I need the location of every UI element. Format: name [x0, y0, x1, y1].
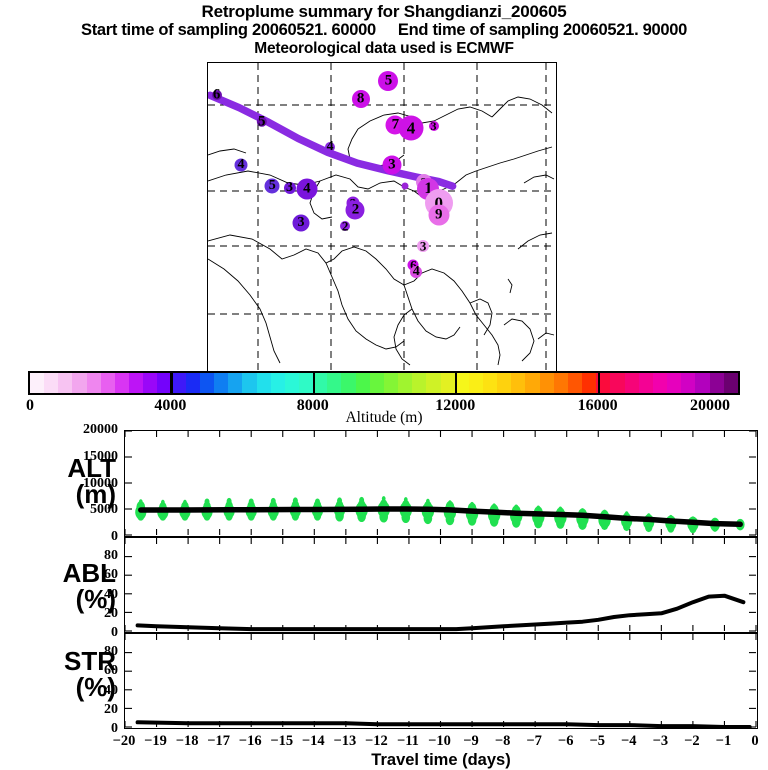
altitude-scatter-dot [623, 521, 630, 531]
colorbar-swatch [426, 373, 440, 393]
x-tick-label: −19 [144, 733, 167, 750]
altitude-scatter-dot [424, 513, 433, 524]
plume-marker[interactable] [296, 178, 317, 199]
colorbar-swatch [58, 373, 72, 393]
plume-marker[interactable] [378, 71, 398, 91]
x-tick-label: −9 [463, 733, 479, 750]
abl-trend-line [138, 596, 744, 629]
x-tick-label: −3 [653, 733, 669, 750]
alt-y-tick-label: 10000 [60, 477, 118, 491]
altitude-scatter-dot [401, 512, 410, 523]
x-tick-label: −2 [684, 733, 700, 750]
colorbar-swatch [653, 373, 667, 393]
colorbar-swatch [724, 373, 738, 393]
x-tick-label: −13 [333, 733, 356, 750]
colorbar-swatch [257, 373, 271, 393]
colorbar-swatch [540, 373, 554, 393]
x-tick-label: −7 [526, 733, 542, 750]
colorbar-swatch [341, 373, 355, 393]
colorbar-swatch [398, 373, 412, 393]
altitude-scatter-dot [292, 511, 299, 521]
colorbar-swatch [384, 373, 398, 393]
altitude-scatter-dot [601, 520, 608, 530]
sampling-time-line: Start time of sampling 20060521. 60000En… [0, 21, 768, 39]
colorbar-swatch [186, 373, 200, 393]
str-panel[interactable] [124, 633, 758, 729]
plume-marker[interactable] [352, 90, 370, 108]
colorbar-swatch [356, 373, 370, 393]
x-tick-label: −10 [428, 733, 451, 750]
page-title: Retroplume summary for Shangdianzi_20060… [0, 2, 768, 21]
map-gridlines [208, 63, 555, 371]
colorbar-swatch [200, 373, 214, 393]
colorbar-swatch [511, 373, 525, 393]
str-y-tick-label: 20 [60, 703, 118, 717]
colorbar-swatch [313, 373, 327, 393]
x-tick-label: −18 [176, 733, 199, 750]
coastline-paths [208, 97, 554, 365]
altitude-colorbar[interactable]: 040008000120001600020000 [28, 371, 740, 395]
plume-marker[interactable] [428, 204, 449, 225]
x-tick-label: −16 [239, 733, 262, 750]
colorbar-swatch [242, 373, 256, 393]
colorbar-gradient [28, 371, 740, 395]
colorbar-swatch [44, 373, 58, 393]
colorbar-swatch [299, 373, 313, 393]
str-y-tick-label: 0 [60, 722, 118, 736]
colorbar-swatch [143, 373, 157, 393]
colorbar-swatch [72, 373, 86, 393]
str-y-tick-label: 80 [60, 645, 118, 659]
str-plot [125, 634, 756, 727]
altitude-scatter-dot [534, 517, 543, 528]
colorbar-swatch [115, 373, 129, 393]
colorbar-swatch [681, 373, 695, 393]
colorbar-swatch [582, 373, 596, 393]
x-tick-label: −5 [589, 733, 605, 750]
x-tick-label: −14 [302, 733, 325, 750]
colorbar-swatch [285, 373, 299, 393]
colorbar-swatch [271, 373, 285, 393]
map-geography [208, 63, 555, 371]
title-block: Retroplume summary for Shangdianzi_20060… [0, 2, 768, 57]
plume-marker[interactable] [340, 221, 350, 231]
alt-plot [125, 431, 756, 535]
altitude-scatter-dot [645, 522, 652, 532]
plume-marker[interactable] [234, 158, 247, 171]
plume-marker[interactable] [417, 240, 429, 252]
colorbar-swatch [129, 373, 143, 393]
str-y-tick-label: 40 [60, 684, 118, 698]
colorbar-swatch [710, 373, 724, 393]
x-axis-title: Travel time (days) [124, 751, 758, 770]
abl-content [125, 538, 756, 631]
str-content [125, 634, 756, 727]
colorbar-swatch [554, 373, 568, 393]
alt-y-tick-label: 15000 [60, 450, 118, 464]
colorbar-swatch [101, 373, 115, 393]
plume-marker[interactable] [382, 155, 401, 174]
colorbar-divider [598, 371, 600, 395]
x-tick-label: −4 [621, 733, 637, 750]
plume-marker[interactable] [284, 182, 296, 194]
colorbar-swatch [441, 373, 455, 393]
plume-marker[interactable] [410, 266, 422, 278]
str-y-tick-label: 60 [60, 664, 118, 678]
x-tick-label: −8 [495, 733, 511, 750]
end-time-label: End time of sampling 20060521. 90000 [398, 21, 687, 39]
colorbar-swatch [639, 373, 653, 393]
str-trend-line [138, 722, 750, 727]
plume-marker[interactable] [325, 142, 335, 152]
alt-content [125, 431, 756, 535]
colorbar-divider [170, 371, 172, 395]
altitude-scatter-dot [314, 511, 321, 521]
abl-y-tick-label: 0 [60, 626, 118, 640]
colorbar-swatch [228, 373, 242, 393]
x-tick-label: −11 [397, 733, 419, 750]
altitude-scatter-dot [512, 516, 521, 527]
x-tick-label: −1 [716, 733, 732, 750]
x-tick-label: −15 [270, 733, 293, 750]
colorbar-swatch [30, 373, 44, 393]
colorbar-swatch [469, 373, 483, 393]
colorbar-swatch [610, 373, 624, 393]
abl-panel[interactable] [124, 537, 758, 633]
colorbar-swatch [214, 373, 228, 393]
x-tick-label: −17 [207, 733, 230, 750]
plume-marker[interactable] [429, 121, 439, 131]
colorbar-divider [313, 371, 315, 395]
colorbar-swatch [667, 373, 681, 393]
x-tick-label: −6 [558, 733, 574, 750]
altitude-scatter-dot [667, 523, 674, 533]
colorbar-divider [455, 371, 457, 395]
colorbar-swatch [370, 373, 384, 393]
altitude-scatter-dot [468, 514, 477, 525]
abl-y-tick-label: 60 [60, 568, 118, 582]
abl-plot [125, 538, 756, 631]
retroplume-map[interactable]: 654534433228574332109364 [207, 62, 557, 373]
alt-y-tick-label: 20000 [60, 423, 118, 437]
colorbar-swatch [695, 373, 709, 393]
altitude-scatter-dot [379, 511, 388, 522]
x-tick-label: 0 [751, 733, 758, 750]
colorbar-swatch [172, 373, 186, 393]
plume-marker[interactable] [265, 179, 280, 194]
start-time-label: Start time of sampling 20060521. 60000 [81, 21, 376, 39]
altitude-scatter-dot [490, 515, 499, 526]
colorbar-swatch [412, 373, 426, 393]
altitude-scatter-dot [446, 514, 455, 525]
colorbar-swatch [525, 373, 539, 393]
altitude-scatter-dot [578, 518, 587, 529]
altitude-scatter-dot [357, 511, 366, 522]
colorbar-swatch [87, 373, 101, 393]
abl-y-tick-label: 20 [60, 607, 118, 621]
x-tick-label: −12 [365, 733, 388, 750]
alt-y-tick-label: 0 [60, 530, 118, 544]
abl-y-tick-label: 40 [60, 588, 118, 602]
colorbar-swatch [625, 373, 639, 393]
plume-marker[interactable] [346, 201, 365, 220]
colorbar-swatch [483, 373, 497, 393]
plume-marker[interactable] [212, 90, 222, 100]
plume-marker[interactable] [292, 215, 309, 232]
alt-y-tick-label: 5000 [60, 503, 118, 517]
alt-panel[interactable] [124, 430, 758, 537]
abl-y-tick-label: 80 [60, 549, 118, 563]
x-tick-label: −20 [113, 733, 136, 750]
plume-marker[interactable] [398, 116, 423, 141]
plume-marker[interactable] [402, 183, 409, 190]
altitude-scatter-dot [556, 517, 565, 528]
met-data-label: Meteorological data used is ECMWF [0, 40, 768, 57]
colorbar-swatch [327, 373, 341, 393]
colorbar-swatch [497, 373, 511, 393]
colorbar-swatch [568, 373, 582, 393]
